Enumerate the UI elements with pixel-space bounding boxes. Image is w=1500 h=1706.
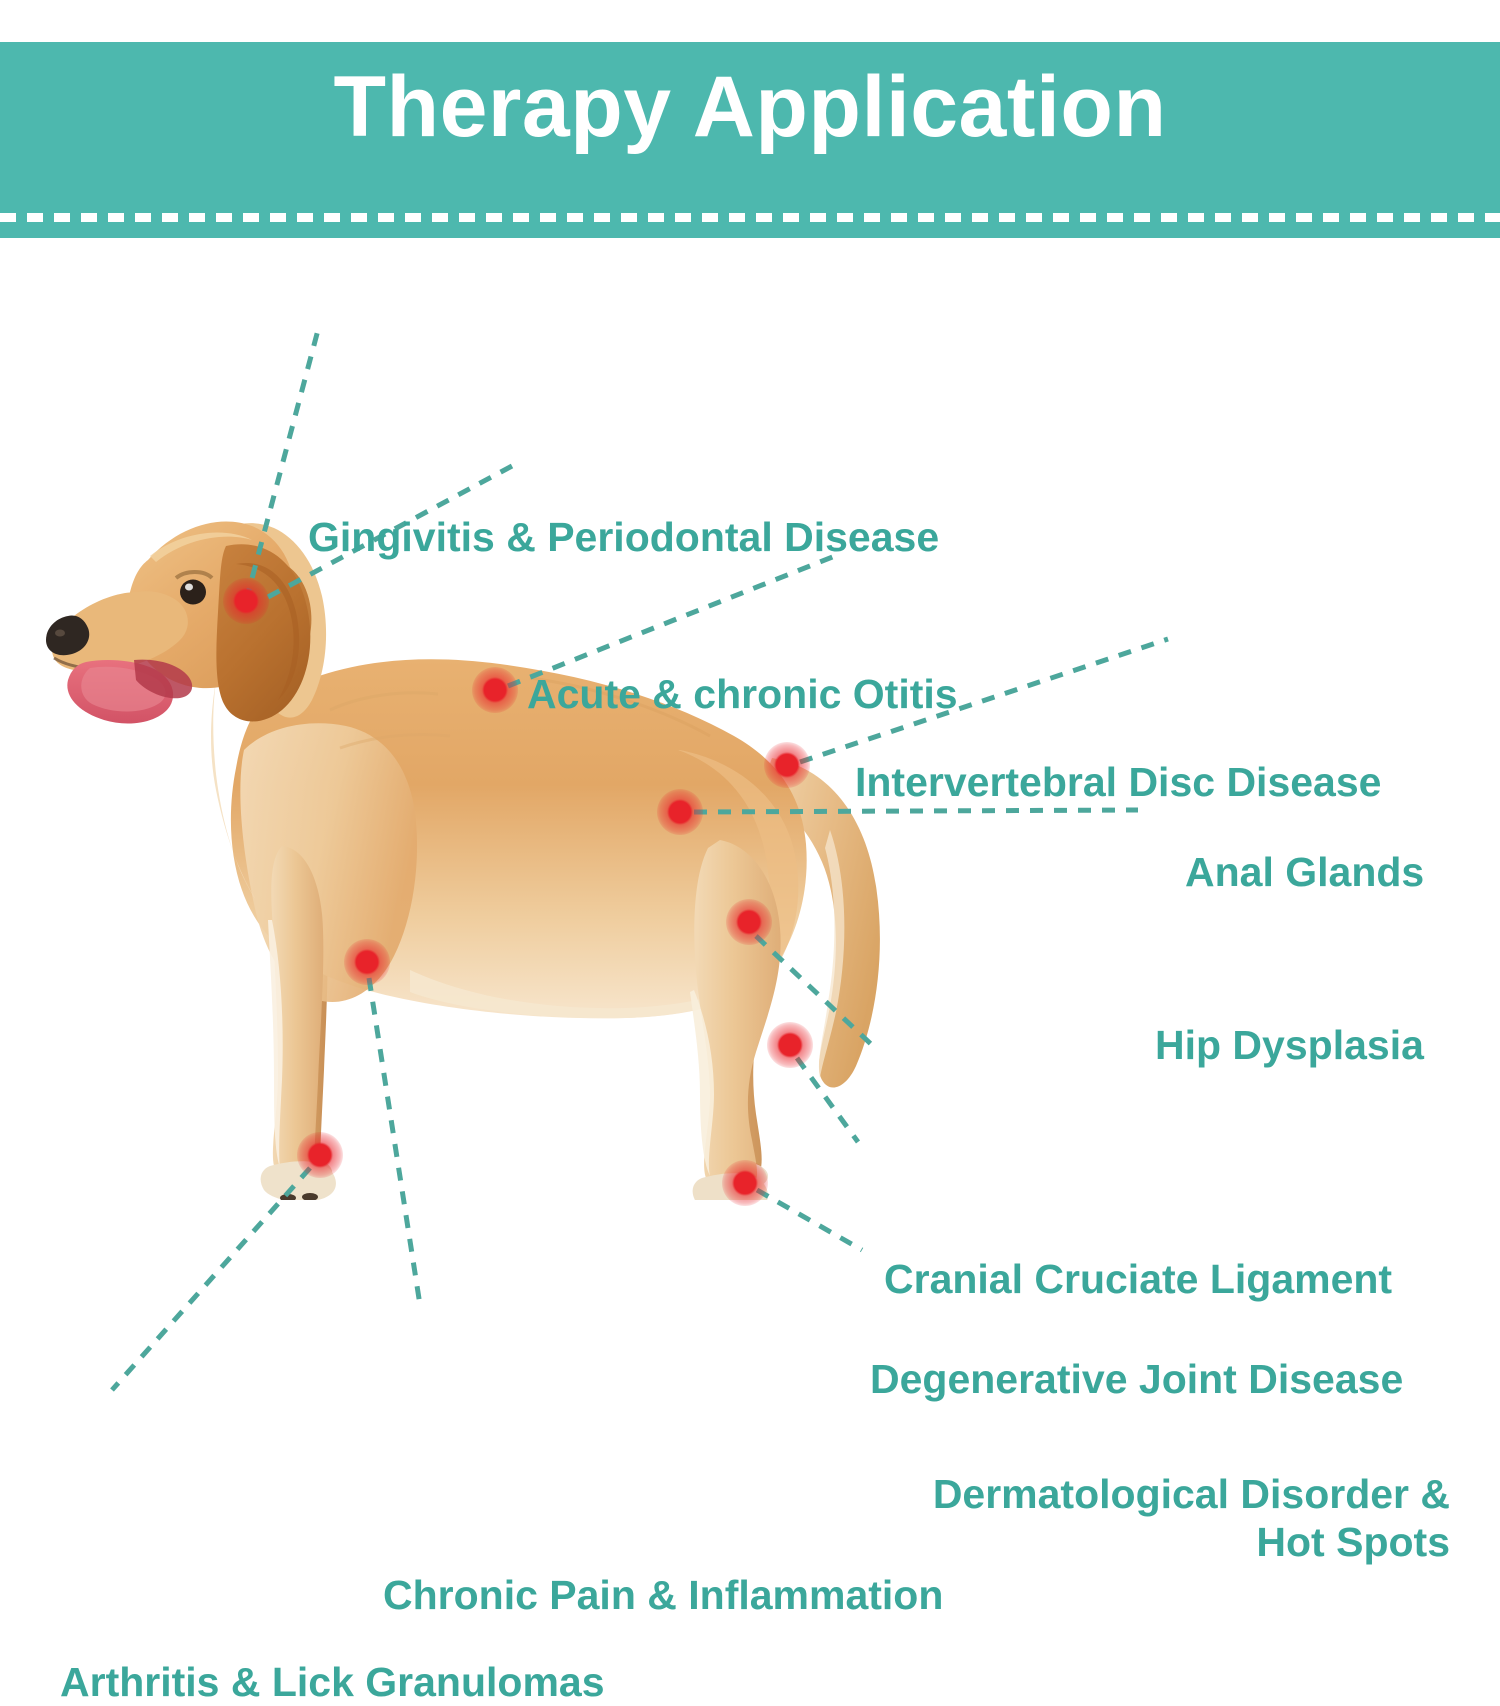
label-arthritis[interactable]: Arthritis & Lick Granulomas (60, 1658, 605, 1706)
label-gingivitis[interactable]: Gingivitis & Periodontal Disease (308, 513, 939, 561)
page-title: Therapy Application (0, 62, 1500, 152)
marker-dot-dermatological-disorder[interactable] (722, 1160, 768, 1206)
leader-degenerative-joint-disease (797, 1058, 858, 1142)
leader-hip-dysplasia (694, 810, 1138, 812)
marker-dot-chronic-pain[interactable] (344, 939, 390, 985)
marker-dot-gingivitis-otitis[interactable] (223, 578, 269, 624)
label-hip-dysplasia[interactable]: Hip Dysplasia (1155, 1021, 1424, 1069)
label-dermatological-line-1: Dermatological Disorder & (933, 1471, 1450, 1517)
leader-arthritis (112, 1168, 310, 1390)
therapy-application-infographic: Therapy Application (0, 0, 1500, 1500)
label-chronic-pain[interactable]: Chronic Pain & Inflammation (383, 1571, 943, 1619)
marker-dot-arthritis[interactable] (297, 1132, 343, 1178)
label-cranial-cruciate-ligament[interactable]: Cranial Cruciate Ligament (884, 1255, 1392, 1303)
label-dermatological-line-2: Hot Spots (1256, 1519, 1450, 1565)
leader-ivdd (508, 554, 840, 686)
marker-dot-anal-glands[interactable] (764, 742, 810, 788)
label-degenerative-joint-disease[interactable]: Degenerative Joint Disease (870, 1355, 1403, 1403)
diagram-area: Gingivitis & Periodontal Disease Acute &… (0, 238, 1500, 1500)
leader-chronic-pain (369, 978, 420, 1305)
label-anal-glands[interactable]: Anal Glands (1185, 848, 1424, 896)
label-intervertebral-disc-disease[interactable]: Intervertebral Disc Disease (855, 758, 1381, 806)
marker-dot-intervertebral-disc-disease[interactable] (472, 667, 518, 713)
header-dashed-divider (0, 213, 1500, 222)
marker-dot-cranial-cruciate-ligament[interactable] (726, 899, 772, 945)
marker-dot-degenerative-joint-disease[interactable] (767, 1022, 813, 1068)
leader-dermatological-disorder (757, 1190, 862, 1250)
header-band: Therapy Application (0, 42, 1500, 238)
label-otitis[interactable]: Acute & chronic Otitis (527, 670, 958, 718)
marker-dot-hip-dysplasia[interactable] (657, 789, 703, 835)
label-dermatological-disorder[interactable]: Dermatological Disorder & Hot Spots (872, 1470, 1450, 1567)
